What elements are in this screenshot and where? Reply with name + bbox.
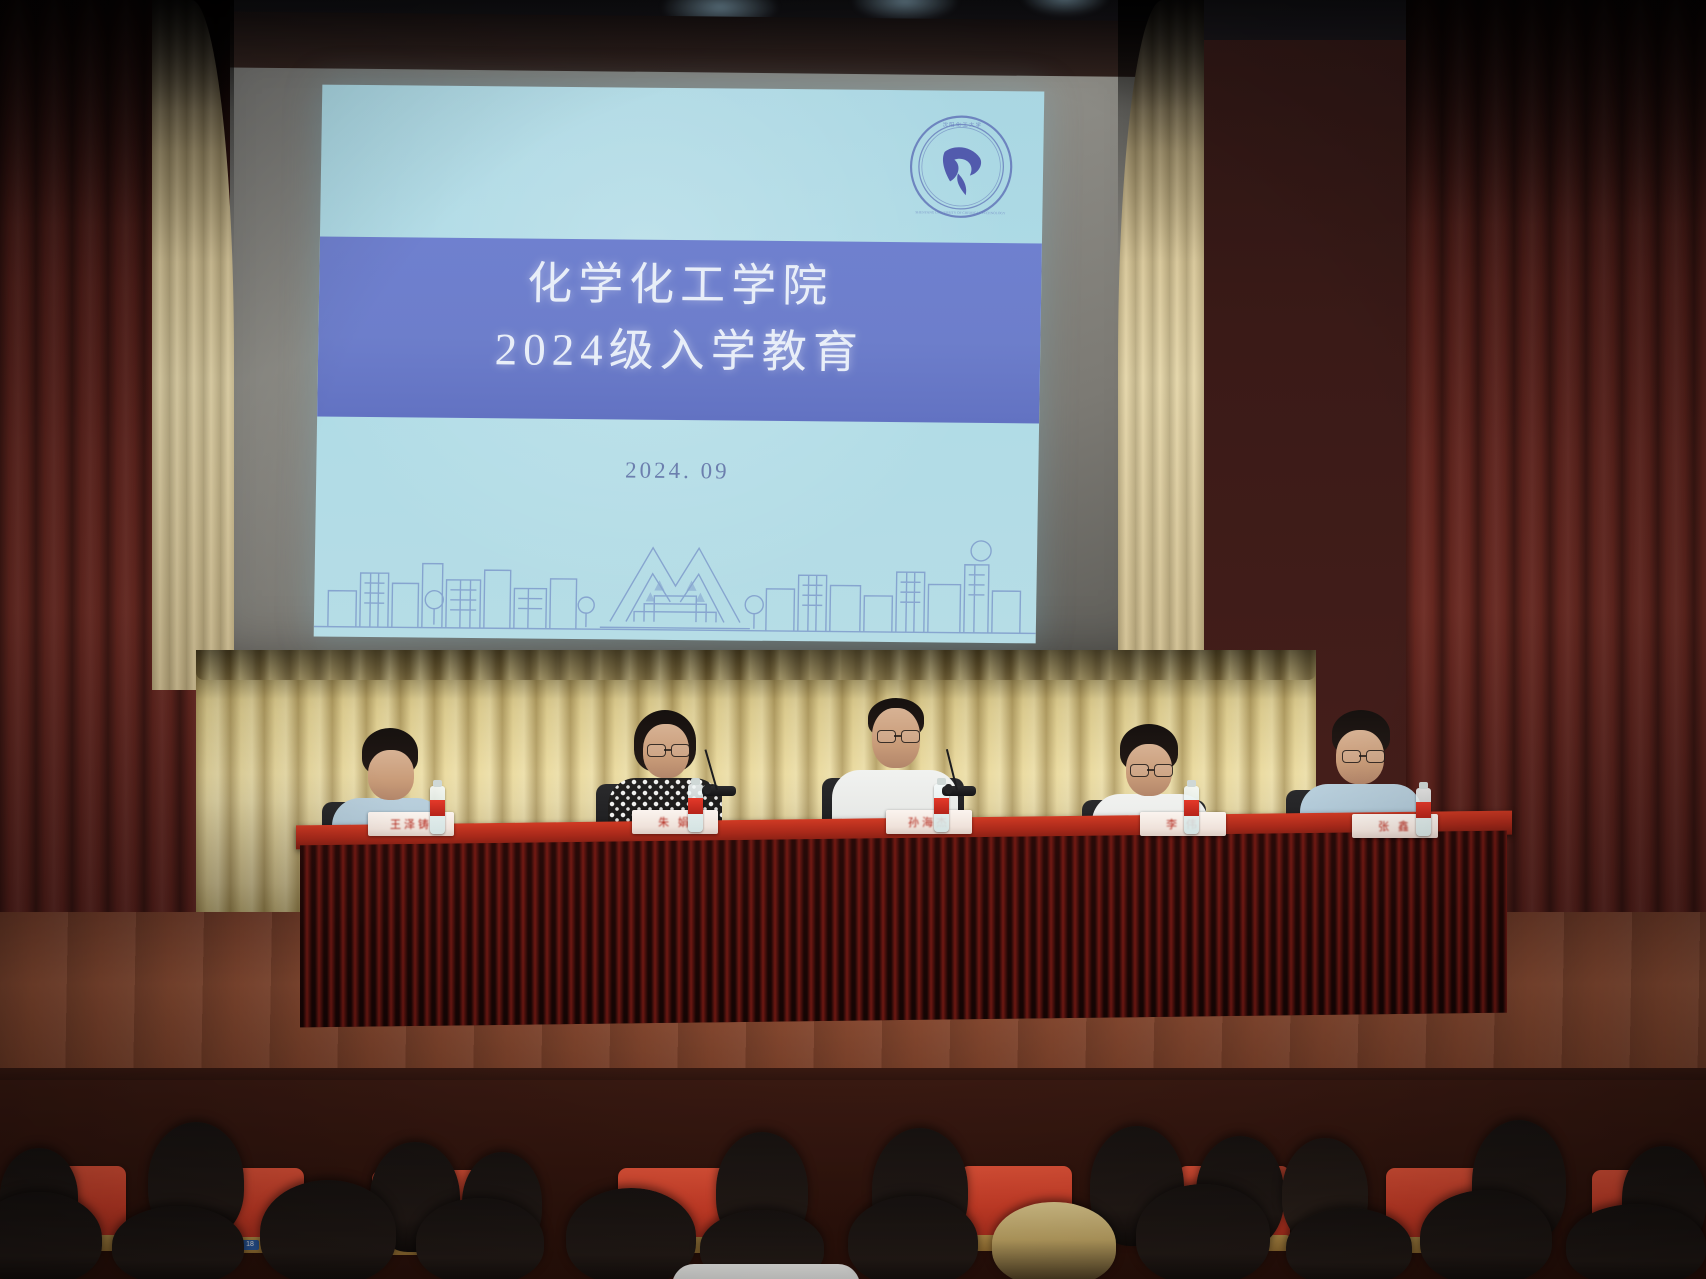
mic-capsule	[704, 784, 711, 794]
audience-head-blonde	[992, 1202, 1116, 1279]
slide-title-line-1: 化学化工学院	[319, 245, 1042, 317]
svg-text:SHENYANG UNIVERSITY OF CHEMICA: SHENYANG UNIVERSITY OF CHEMICAL TECHNOLO…	[915, 210, 1006, 215]
audience-head	[566, 1188, 696, 1279]
audience-head	[260, 1180, 396, 1279]
screen-top-bar	[160, 11, 1171, 78]
audience-head	[416, 1198, 544, 1279]
nameplate-center: 孙海杰	[886, 810, 972, 834]
audience-head	[112, 1206, 244, 1279]
nameplate-text: 朱 娟	[658, 814, 692, 830]
water-bottle	[1184, 786, 1199, 834]
audience-head	[1286, 1208, 1412, 1279]
audience-head	[1136, 1184, 1270, 1279]
campus-skyline-illustration	[314, 487, 1038, 644]
mic-capsule	[945, 784, 952, 794]
water-bottle	[1416, 788, 1431, 836]
audience-area: 17 18 19 20 21 22	[0, 1080, 1706, 1279]
auditorium-photo: 沈 阳 化 工 大 学 SHENYANG UNIVERSITY OF CHEMI…	[0, 0, 1706, 1279]
slide-title-line-2: 2024级入学教育	[318, 311, 1041, 383]
nameplate-right: 李 伟	[1140, 812, 1226, 836]
nameplate-left: 朱 娟	[632, 810, 718, 834]
water-bottle	[688, 784, 703, 832]
audience-head	[848, 1196, 978, 1279]
nameplate-text: 王泽铸	[390, 816, 432, 832]
nameplate-text: 张 鑫	[1378, 818, 1412, 834]
screen-valance-left	[152, 0, 234, 690]
audience-head	[1420, 1190, 1552, 1279]
university-seal-logo: 沈 阳 化 工 大 学 SHENYANG UNIVERSITY OF CHEMI…	[906, 112, 1016, 221]
projected-slide: 沈 阳 化 工 大 学 SHENYANG UNIVERSITY OF CHEMI…	[314, 85, 1045, 644]
audience-head	[1566, 1204, 1706, 1279]
head-table	[296, 818, 1512, 1018]
audience-shoulder	[672, 1264, 860, 1279]
table-skirt	[300, 831, 1507, 1028]
water-bottle	[430, 786, 445, 834]
slide-date: 2024. 09	[316, 455, 1038, 488]
ceiling-spotlight	[1020, 0, 1110, 16]
svg-text:沈 阳 化 工 大 学: 沈 阳 化 工 大 学	[943, 120, 982, 128]
screen-valance-right	[1118, 0, 1204, 690]
panelist-head	[368, 750, 414, 800]
